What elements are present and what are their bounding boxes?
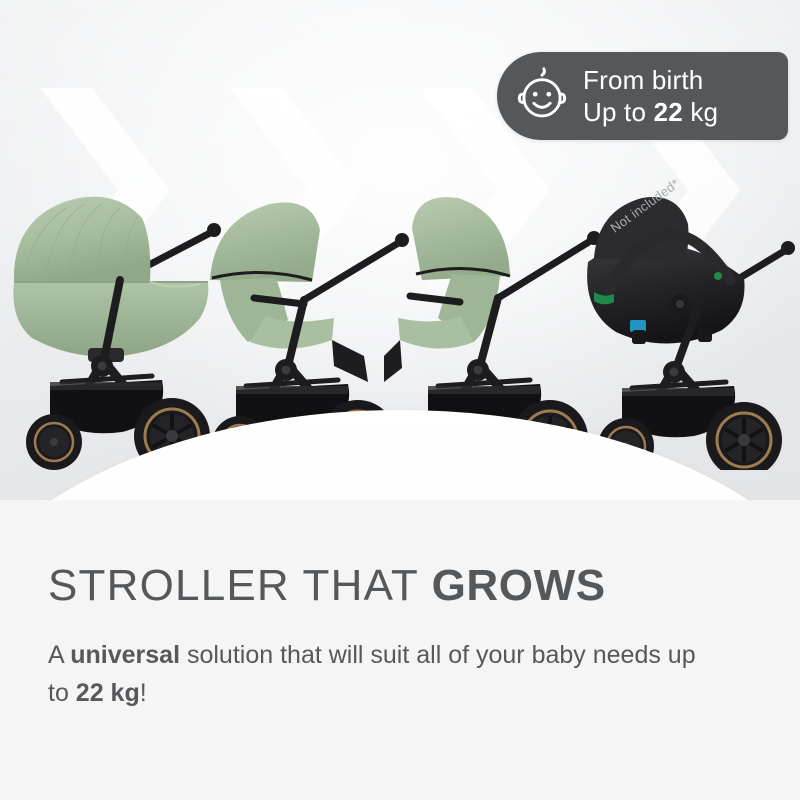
promo-page: Not included* From birth Up to 22 kg STR… bbox=[0, 0, 800, 800]
baby-face-icon bbox=[513, 67, 571, 125]
seat-base bbox=[398, 316, 474, 349]
wheel-front bbox=[26, 414, 82, 470]
subline-part3: ! bbox=[140, 679, 147, 707]
badge-line-1: From birth bbox=[583, 64, 718, 96]
carrycot-hood bbox=[14, 197, 150, 282]
footrest bbox=[384, 340, 402, 382]
badge-line2-prefix: Up to bbox=[583, 97, 654, 127]
label-dot-green bbox=[714, 272, 722, 280]
badge-text-block: From birth Up to 22 kg bbox=[583, 64, 718, 128]
copy-block: STROLLER THAT GROWS A universal solution… bbox=[0, 500, 800, 800]
badge-line2-suffix: kg bbox=[683, 97, 718, 127]
stroller-config-car-seat[interactable] bbox=[572, 170, 800, 470]
headline-light: STROLLER THAT bbox=[48, 561, 432, 610]
from-birth-badge: From birth Up to 22 kg bbox=[497, 52, 788, 140]
subline-bold-weight: 22 kg bbox=[76, 679, 140, 707]
badge-weight-value: 22 bbox=[654, 97, 683, 127]
page-title: STROLLER THAT GROWS bbox=[48, 560, 752, 612]
subline-bold-universal: universal bbox=[70, 641, 180, 669]
subline-part1: A bbox=[48, 641, 70, 669]
page-subtitle: A universal solution that will suit all … bbox=[48, 636, 708, 712]
badge-line-2: Up to 22 kg bbox=[583, 96, 718, 128]
headline-bold: GROWS bbox=[432, 561, 606, 610]
seat-canopy bbox=[210, 202, 320, 282]
footrest bbox=[332, 340, 368, 382]
